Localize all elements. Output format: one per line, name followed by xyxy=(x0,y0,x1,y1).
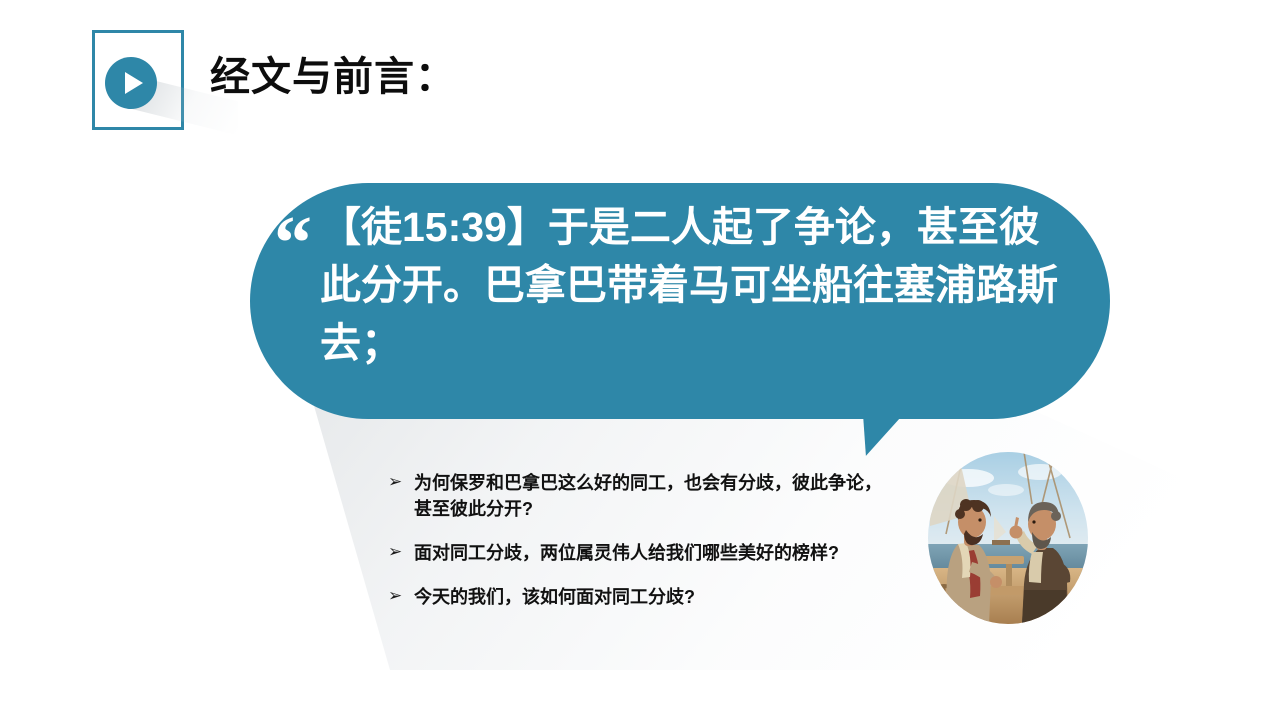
slide-header: 经文与前言： xyxy=(0,0,1280,150)
question-text: 今天的我们，该如何面对同工分歧? xyxy=(414,584,898,610)
list-item: ➢ 面对同工分歧，两位属灵伟人给我们哪些美好的榜样? xyxy=(388,540,898,566)
quotation-mark-icon: “ xyxy=(274,205,312,281)
question-text: 为何保罗和巴拿巴这么好的同工，也会有分歧，彼此争论，甚至彼此分开? xyxy=(414,470,898,522)
play-button-icon[interactable] xyxy=(105,57,157,109)
list-item: ➢ 今天的我们，该如何面对同工分歧? xyxy=(388,584,898,610)
slide-canvas: 经文与前言： “ 【徒15:39】于是二人起了争论，甚至彼此分开。巴拿巴带着马可… xyxy=(0,0,1280,720)
illustration-artwork xyxy=(928,452,1088,624)
scripture-quote-text: 【徒15:39】于是二人起了争论，甚至彼此分开。巴拿巴带着马可坐船往塞浦路斯去； xyxy=(320,198,1060,373)
scene-illustration xyxy=(928,452,1088,624)
list-item: ➢ 为何保罗和巴拿巴这么好的同工，也会有分歧，彼此争论，甚至彼此分开? xyxy=(388,470,898,522)
question-list: ➢ 为何保罗和巴拿巴这么好的同工，也会有分歧，彼此争论，甚至彼此分开? ➢ 面对… xyxy=(388,470,898,628)
play-triangle-icon xyxy=(125,72,143,94)
page-title: 经文与前言： xyxy=(210,44,456,102)
arrow-bullet-icon: ➢ xyxy=(388,540,414,565)
question-text: 面对同工分歧，两位属灵伟人给我们哪些美好的榜样? xyxy=(414,540,898,566)
arrow-bullet-icon: ➢ xyxy=(388,470,414,495)
header-badge xyxy=(92,30,184,130)
arrow-bullet-icon: ➢ xyxy=(388,584,414,609)
